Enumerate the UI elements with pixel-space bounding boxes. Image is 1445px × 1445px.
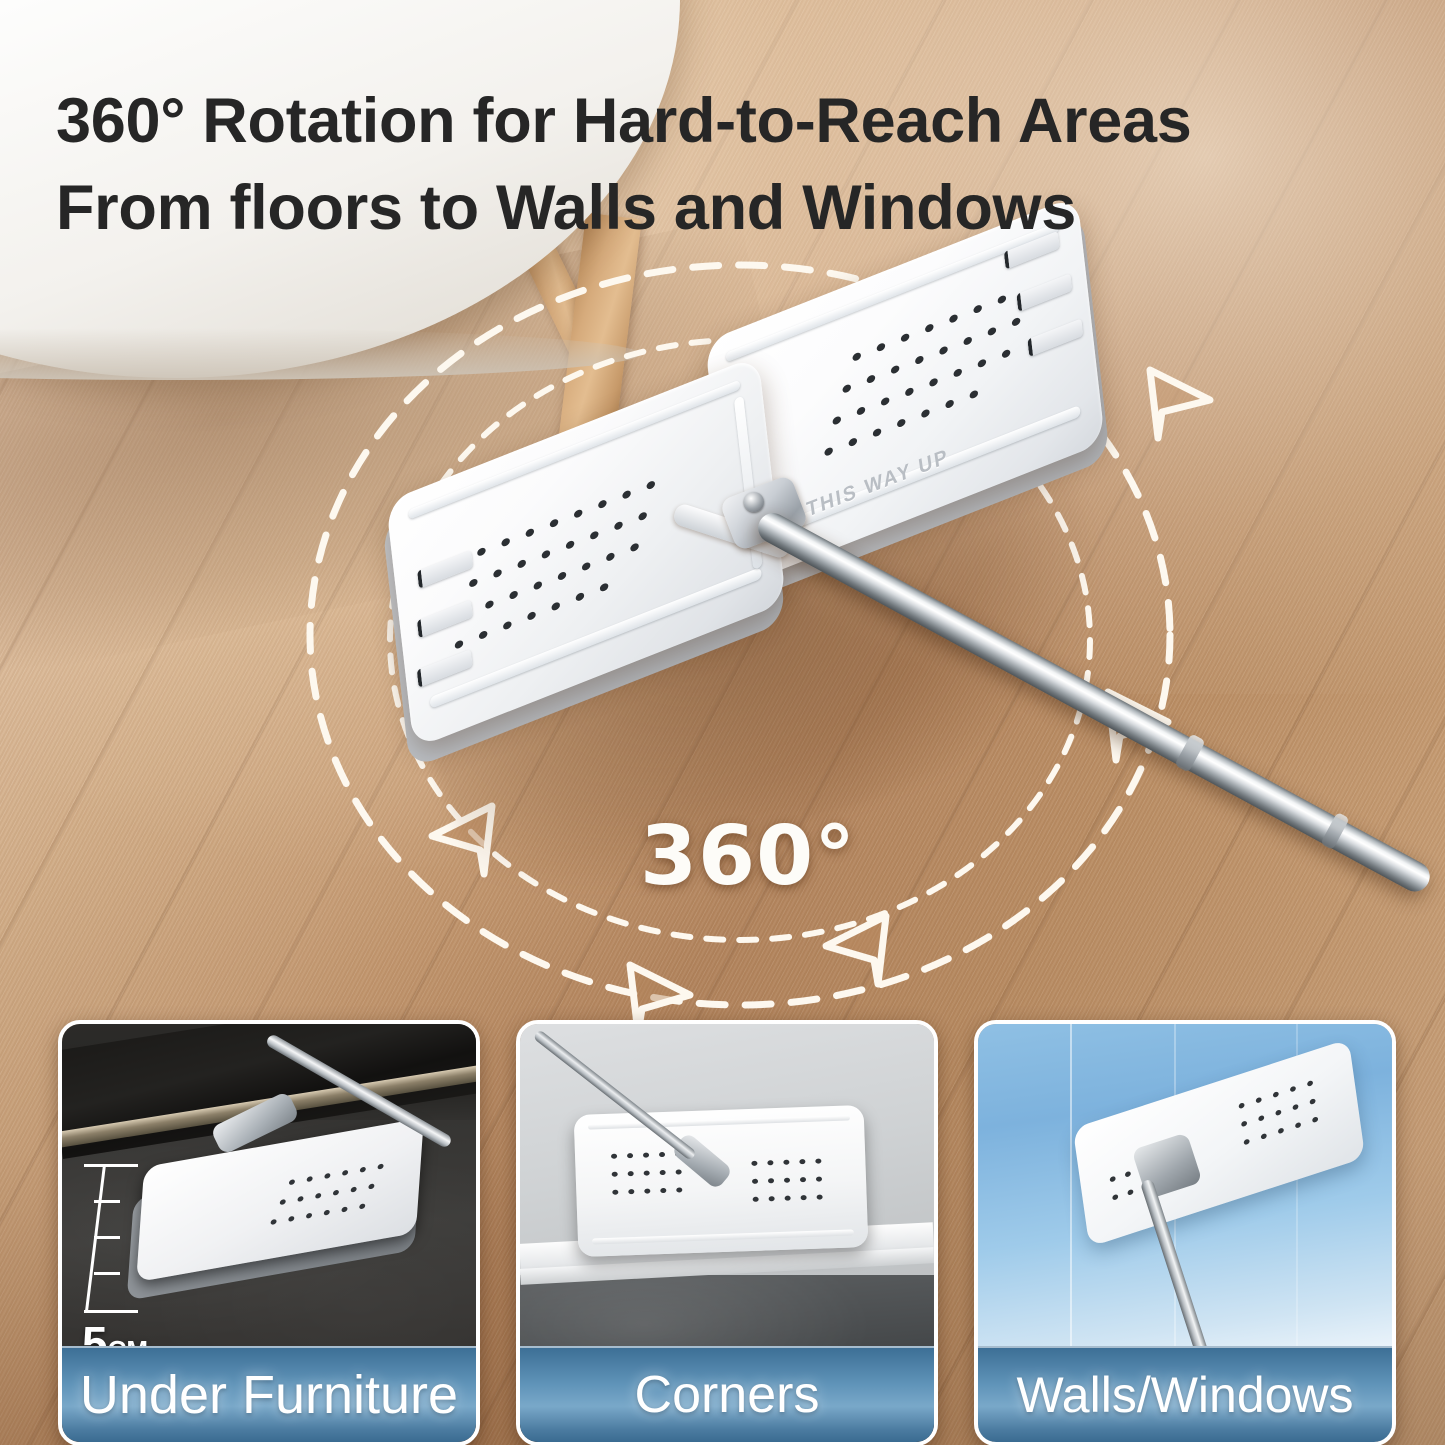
headline-line-2: From floors to Walls and Windows: [56, 165, 1401, 252]
panel-caption-label: Corners: [635, 1369, 820, 1421]
feature-panel-walls-windows[interactable]: Walls/Windows: [974, 1020, 1396, 1445]
panel-caption-label: Under Furniture: [80, 1368, 458, 1422]
panel-caption-walls-windows: Walls/Windows: [978, 1346, 1392, 1442]
product-feature-image: THIS WAY UP 360° Rotation for Hard-to-Re…: [0, 0, 1445, 1445]
feature-panel-under-furniture[interactable]: 5CM Under Furniture: [58, 1020, 480, 1445]
headline-line-1: 360° Rotation for Hard-to-Reach Areas: [56, 86, 1191, 156]
headline: 360° Rotation for Hard-to-Reach Areas Fr…: [56, 78, 1401, 252]
panel-caption-corners: Corners: [520, 1346, 934, 1442]
feature-panel-corners[interactable]: Corners: [516, 1020, 938, 1445]
height-measure-bracket-icon: [84, 1164, 144, 1314]
panel-caption-under-furniture: Under Furniture: [62, 1346, 476, 1442]
panel-caption-label: Walls/Windows: [1016, 1370, 1353, 1420]
rotation-degree-label: 360°: [640, 816, 856, 898]
feature-panels: 5CM Under Furniture: [0, 1020, 1445, 1445]
